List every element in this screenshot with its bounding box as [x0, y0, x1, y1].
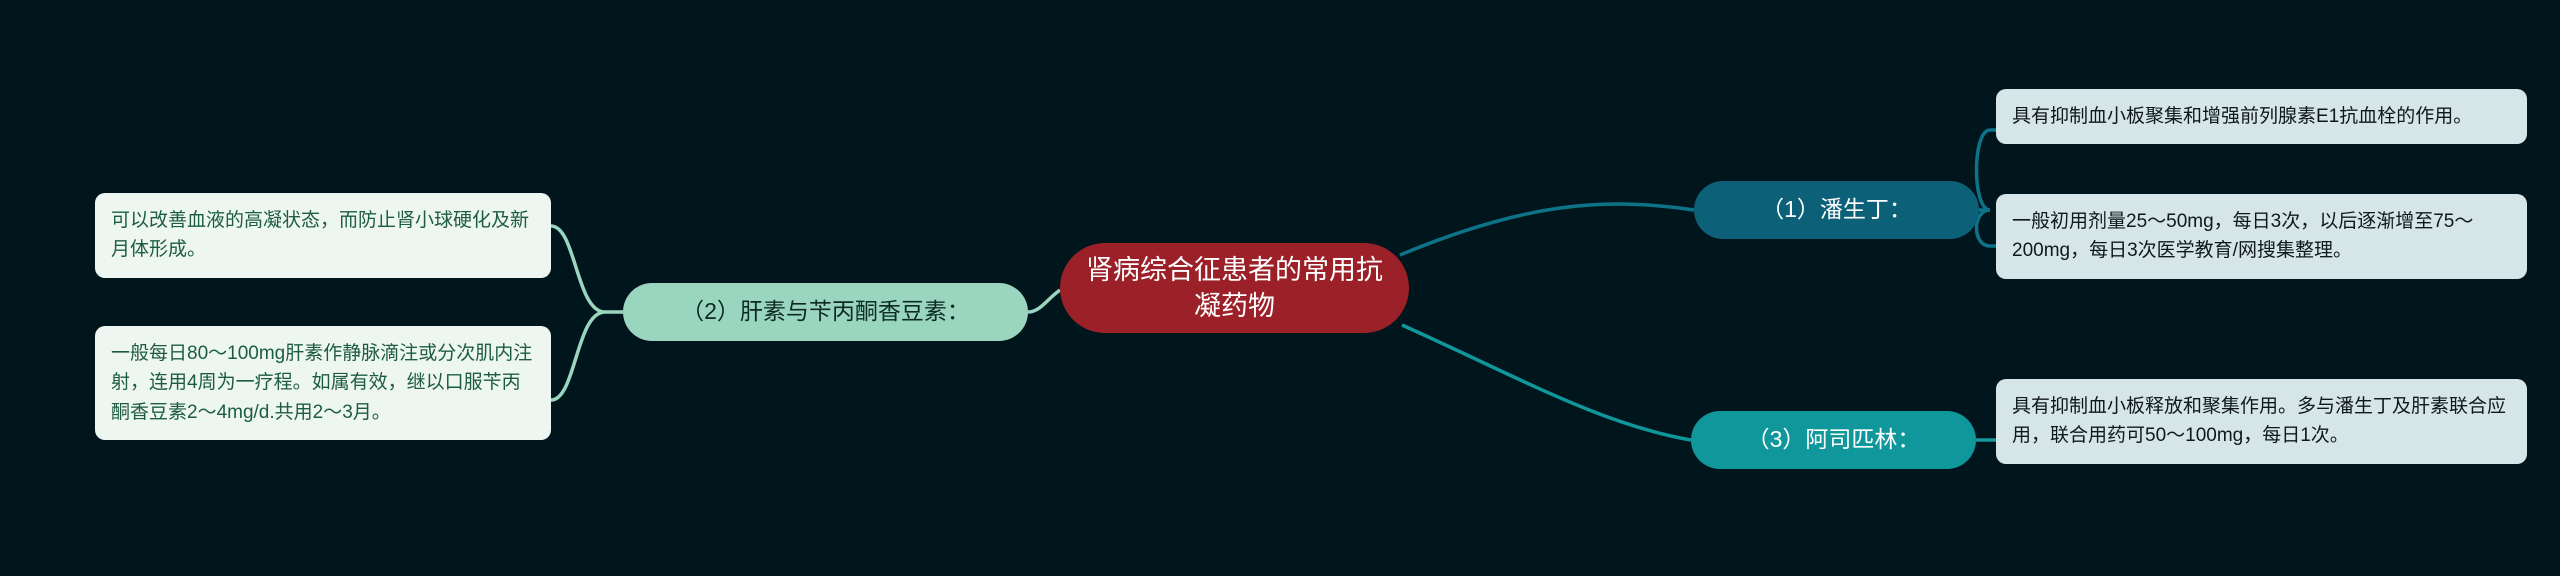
- connector-root-to-branch-3: [1402, 325, 1691, 440]
- branch-node-1[interactable]: （1）潘生丁：: [1694, 181, 1979, 239]
- connector-root-to-branch-2: [1028, 290, 1060, 312]
- leaf-node-3-1[interactable]: 具有抑制血小板释放和聚集作用。多与潘生丁及肝素联合应用，联合用药可50～100m…: [1996, 379, 2527, 464]
- branch-node-3-label: （3）阿司匹林：: [1747, 425, 1921, 455]
- root-node[interactable]: 肾病综合征患者的常用抗凝药物: [1060, 243, 1409, 333]
- leaf-node-2-1[interactable]: 可以改善血液的高凝状态，而防止肾小球硬化及新月体形成。: [95, 193, 551, 278]
- branch-node-2[interactable]: （2）肝素与苄丙酮香豆素：: [623, 283, 1028, 341]
- mindmap-canvas: 肾病综合征患者的常用抗凝药物 （1）潘生丁： 具有抑制血小板聚集和增强前列腺素E…: [0, 0, 2560, 576]
- root-node-label: 肾病综合征患者的常用抗凝药物: [1086, 252, 1383, 325]
- leaf-node-1-1[interactable]: 具有抑制血小板聚集和增强前列腺素E1抗血栓的作用。: [1996, 89, 2527, 144]
- branch-node-1-label: （1）潘生丁：: [1761, 195, 1912, 225]
- branch-node-2-label: （2）肝素与苄丙酮香豆素：: [681, 297, 970, 327]
- connector-branch-1-bracket: [1977, 130, 1991, 246]
- leaf-node-2-2[interactable]: 一般每日80～100mg肝素作静脉滴注或分次肌内注射，连用4周为一疗程。如属有效…: [95, 326, 551, 440]
- connector-root-to-branch-1: [1400, 204, 1694, 255]
- connector-branch-2-bracket: [551, 226, 605, 400]
- branch-node-3[interactable]: （3）阿司匹林：: [1691, 411, 1976, 469]
- leaf-node-1-2[interactable]: 一般初用剂量25～50mg，每日3次，以后逐渐增至75～200mg，每日3次医学…: [1996, 194, 2527, 279]
